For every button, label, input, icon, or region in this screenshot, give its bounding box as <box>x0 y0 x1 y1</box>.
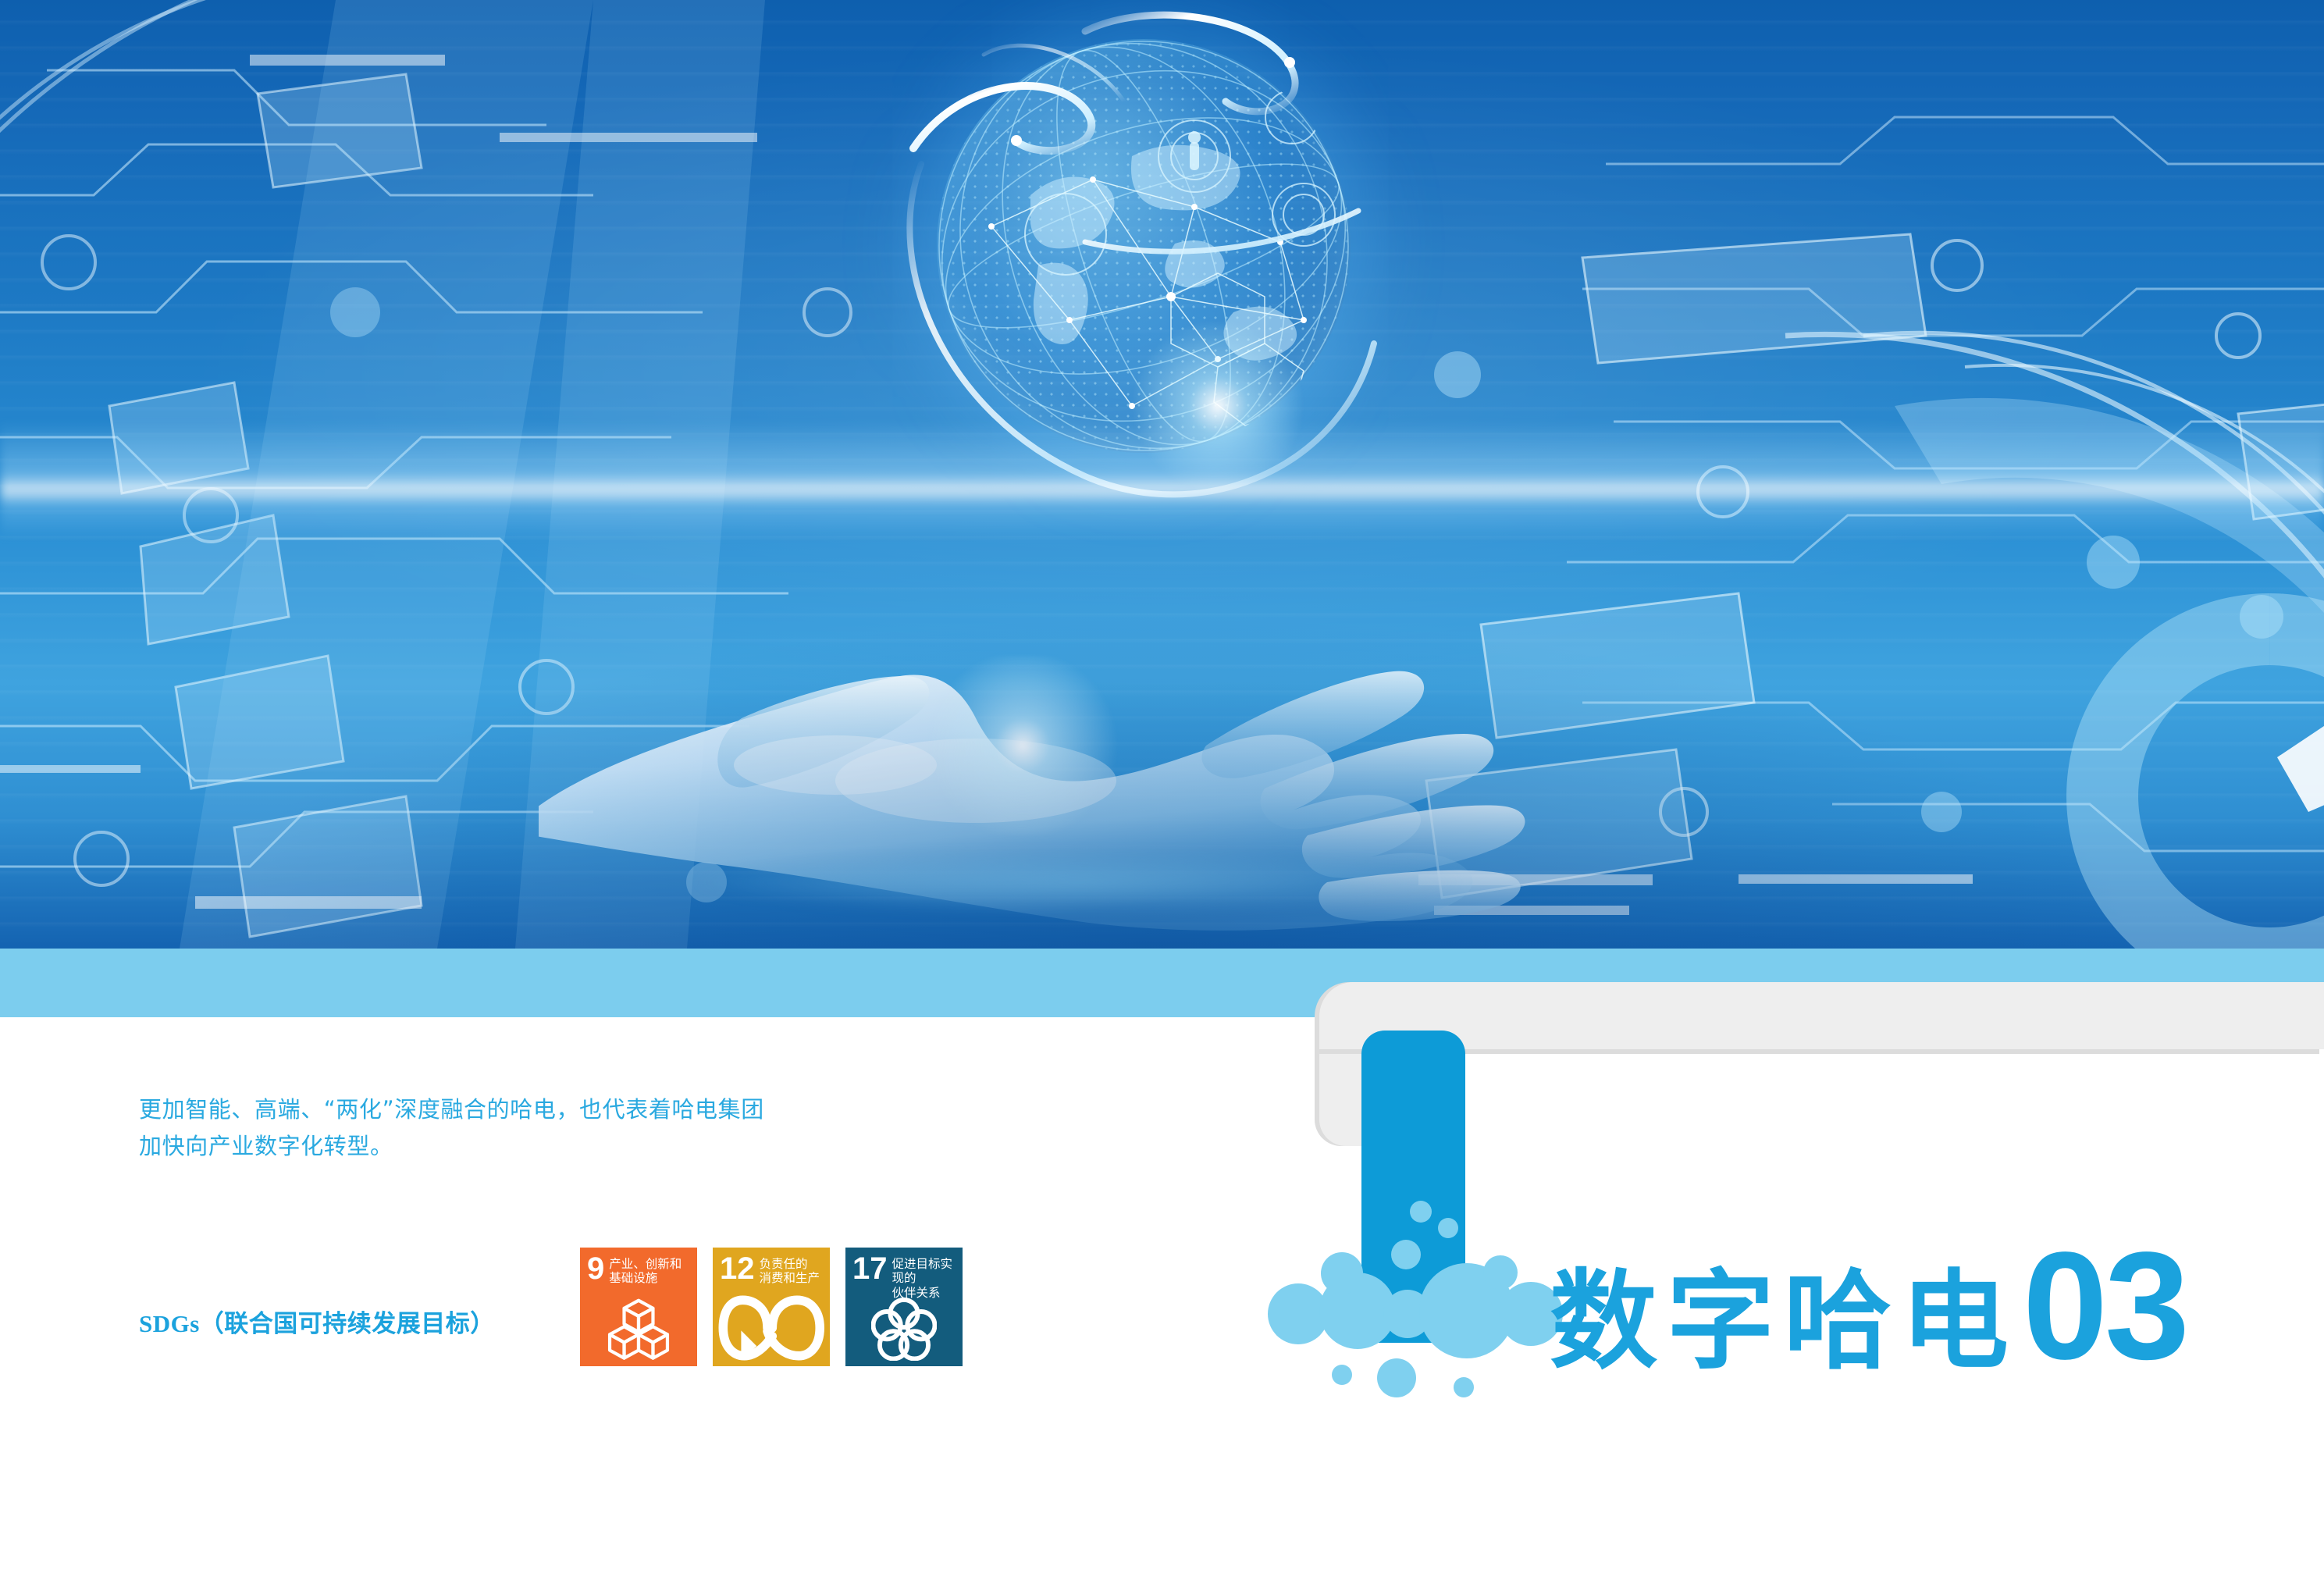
sdg-goal-17-title: 促进目标实现的 伙伴关系 <box>892 1255 959 1300</box>
sdg-goal-9-number: 9 <box>587 1255 604 1283</box>
cubes-icon <box>580 1294 697 1362</box>
bubbles-graphic <box>1265 1249 1593 1429</box>
sdg-goal-12-title: 负责任的 消费和生产 <box>760 1255 820 1286</box>
sdg-goal-9-head: 9 产业、创新和 基础设施 <box>587 1255 692 1286</box>
sdg-goal-9-title: 产业、创新和 基础设施 <box>609 1255 682 1286</box>
gray-frame-bar <box>1319 982 2324 1049</box>
page-title-cn: 数字哈电 <box>1550 1268 2018 1376</box>
sdg-label: SDGs（联合国可持续发展目标） <box>139 1304 495 1339</box>
glow-icon <box>1124 312 1311 500</box>
sdg-goal-9-tile[interactable]: 9 产业、创新和 基础设施 <box>580 1248 697 1366</box>
body-copy: 更加智能、高端、“两化”深度融合的哈电，也代表着哈电集团 加快向产业数字化转型。 <box>139 1091 920 1165</box>
page-title: 数字哈电 03 <box>1550 1230 2187 1383</box>
sdg-goal-12-number: 12 <box>720 1255 755 1283</box>
globe-icon <box>890 8 1390 523</box>
infinity-loop-icon <box>713 1294 830 1362</box>
reflection-glow-icon <box>687 851 1468 913</box>
sdg-block: SDGs（联合国可持续发展目标） 9 产业、创新和 基础设施 12 负责任的 <box>139 1240 1060 1404</box>
sdg-goal-12-tile[interactable]: 12 负责任的 消费和生产 <box>713 1248 830 1366</box>
glow-icon <box>898 656 1148 835</box>
body-copy-line-1: 更加智能、高端、“两化”深度融合的哈电，也代表着哈电集团 <box>139 1091 920 1128</box>
sdg-goal-17-number: 17 <box>852 1255 888 1283</box>
sdg-goal-17-tile[interactable]: 17 促进目标实现的 伙伴关系 <box>845 1248 963 1366</box>
sdg-goal-17-head: 17 促进目标实现的 伙伴关系 <box>852 1255 958 1300</box>
body-copy-line-2: 加快向产业数字化转型。 <box>139 1128 920 1165</box>
five-circles-icon <box>845 1294 963 1362</box>
hero-image <box>0 0 2324 949</box>
sdg-goal-12-head: 12 负责任的 消费和生产 <box>720 1255 825 1286</box>
page-section-number: 03 <box>2023 1230 2187 1383</box>
